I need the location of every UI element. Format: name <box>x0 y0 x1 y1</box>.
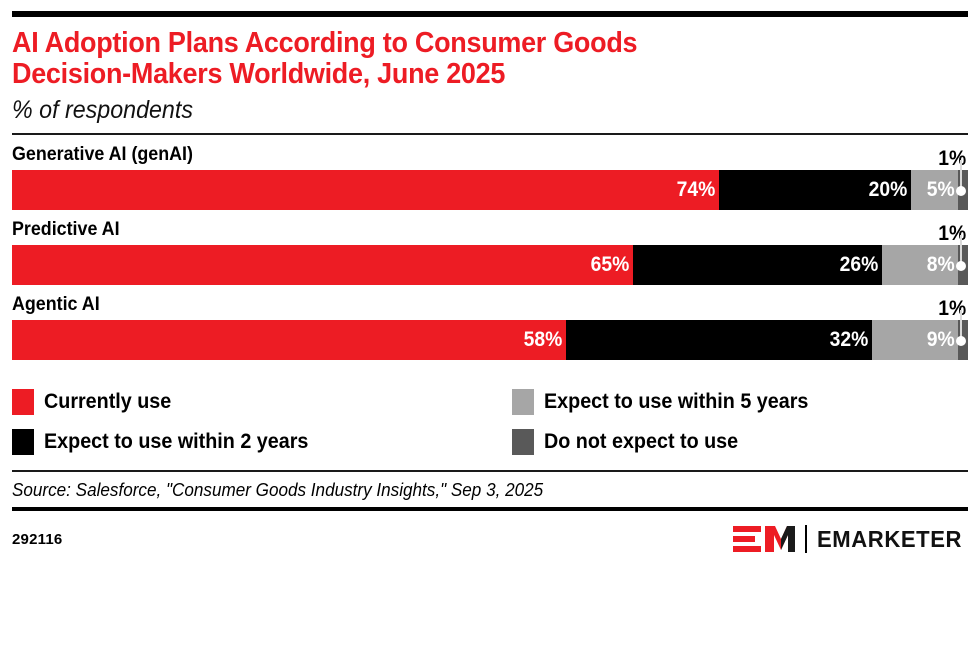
bar-segment[interactable]: 5% <box>911 170 959 210</box>
bar-segment-value: 32% <box>830 328 872 352</box>
legend-item[interactable]: Expect to use within 5 years <box>512 389 968 415</box>
bar-segment-value: 20% <box>868 178 910 202</box>
bar-segment[interactable]: 74% <box>12 170 719 210</box>
bar-segment-value: 58% <box>524 328 566 352</box>
chart-id: 292116 <box>12 531 62 548</box>
legend-item[interactable]: Currently use <box>12 389 512 415</box>
bar-segment-value: 5% <box>927 178 959 202</box>
legend-swatch <box>12 389 34 415</box>
bar-segment-value: 26% <box>840 253 882 277</box>
bar-segment[interactable]: 1% <box>958 170 968 210</box>
bar-segment-value: 8% <box>927 253 959 277</box>
stacked-bar-track: 74%20%5%1% <box>12 170 968 210</box>
bar-segment[interactable]: 1% <box>958 245 968 285</box>
legend-label: Currently use <box>44 390 171 414</box>
callout-leader-dot <box>956 261 966 271</box>
bar-group: Predictive AI65%26%8%1% <box>12 219 968 285</box>
bar-segment[interactable]: 26% <box>633 245 882 285</box>
legend-swatch <box>512 429 534 455</box>
legend-label: Expect to use within 5 years <box>544 390 808 414</box>
bar-category-label: Agentic AI <box>12 294 911 316</box>
bar-segment[interactable]: 32% <box>566 320 872 360</box>
legend-item[interactable]: Expect to use within 2 years <box>12 429 512 455</box>
header-top-rule <box>12 11 968 17</box>
chart-subtitle: % of respondents <box>12 96 901 124</box>
bar-segment[interactable]: 65% <box>12 245 633 285</box>
bar-chart-plot: Generative AI (genAI)74%20%5%1%Predictiv… <box>12 144 968 360</box>
stacked-bar-track: 58%32%9%1% <box>12 320 968 360</box>
bar-segment[interactable]: 1% <box>958 320 968 360</box>
callout-leader-dot <box>956 186 966 196</box>
chart-card: AI Adoption Plans According to Consumer … <box>0 11 980 652</box>
bar-segment[interactable]: 20% <box>719 170 910 210</box>
legend-swatch <box>12 429 34 455</box>
brand-wordmark: EMARKETER <box>817 526 962 553</box>
bar-group: Generative AI (genAI)74%20%5%1% <box>12 144 968 210</box>
bar-segment-value: 74% <box>677 178 719 202</box>
bar-segment[interactable]: 8% <box>882 245 958 285</box>
chart-title: AI Adoption Plans According to Consumer … <box>12 28 901 90</box>
legend-swatch <box>512 389 534 415</box>
legend-label: Do not expect to use <box>544 430 738 454</box>
chart-legend: Currently useExpect to use within 5 year… <box>12 382 968 462</box>
chart-footer: 292116 EMARKETER <box>12 523 968 555</box>
header-bottom-rule <box>12 133 968 135</box>
bar-group: Agentic AI58%32%9%1% <box>12 294 968 360</box>
source-bottom-rule <box>12 507 968 511</box>
em-monogram-icon <box>733 523 795 555</box>
bar-segment-value: 9% <box>927 328 959 352</box>
stacked-bar-track: 65%26%8%1% <box>12 245 968 285</box>
legend-label: Expect to use within 2 years <box>44 430 308 454</box>
source-note: Source: Salesforce, "Consumer Goods Indu… <box>12 472 920 507</box>
callout-leader-dot <box>956 336 966 346</box>
logo-divider <box>805 525 807 553</box>
bar-segment-value: 65% <box>591 253 633 277</box>
bar-segment[interactable]: 58% <box>12 320 566 360</box>
bar-segment[interactable]: 9% <box>872 320 958 360</box>
emarketer-logo[interactable]: EMARKETER <box>733 523 968 555</box>
bar-category-label: Predictive AI <box>12 219 911 241</box>
legend-item[interactable]: Do not expect to use <box>512 429 968 455</box>
bar-category-label: Generative AI (genAI) <box>12 144 911 166</box>
